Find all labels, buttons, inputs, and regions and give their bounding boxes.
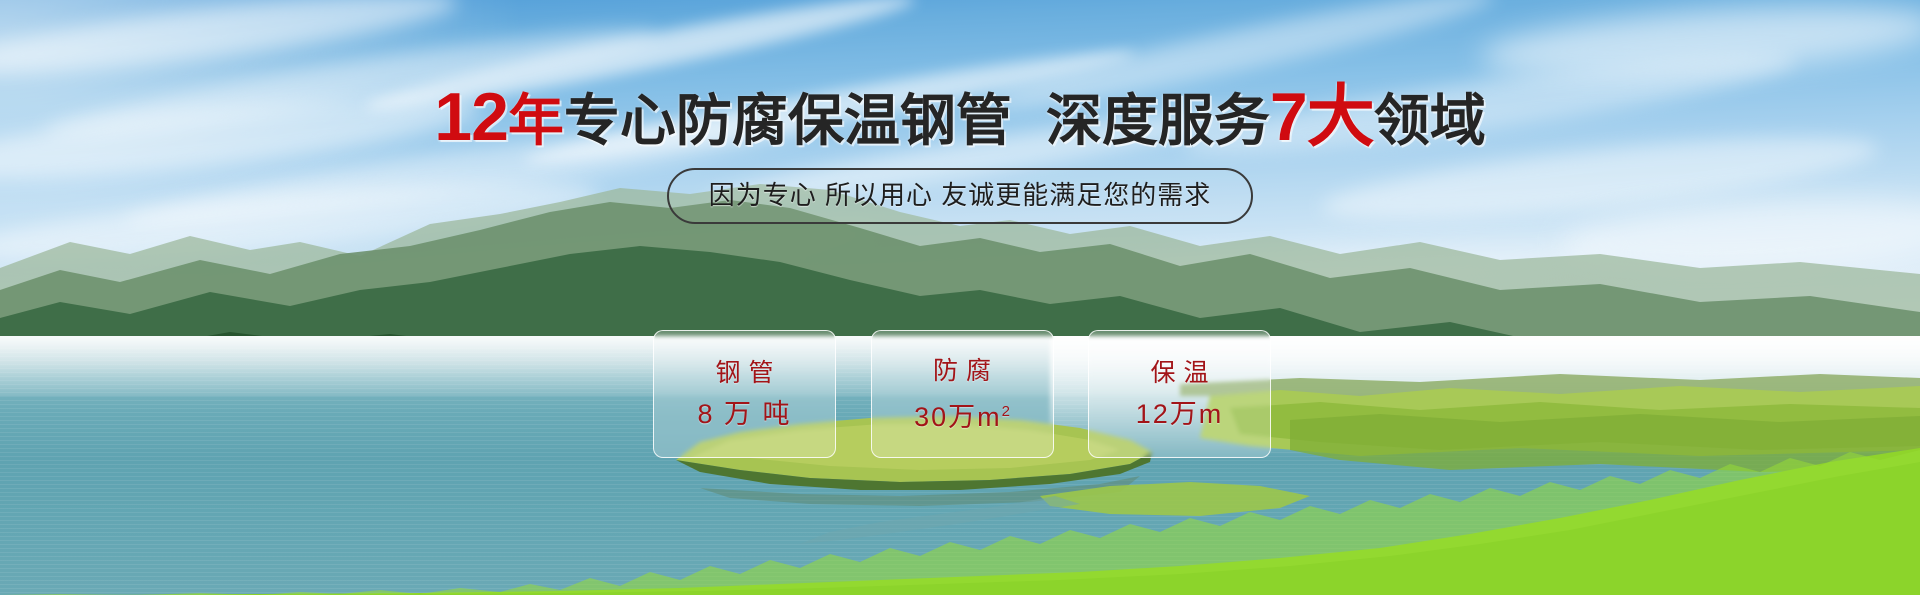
stat-card-anticorrosion[interactable]: 防腐 30万m2	[871, 330, 1054, 458]
hero-banner: 12年专心防腐保温钢管深度服务7大领域 因为专心 所以用心 友诚更能满足您的需求…	[0, 0, 1920, 595]
stat-value-exponent: 2	[1002, 403, 1010, 420]
stat-label: 防腐	[925, 358, 999, 384]
stat-value: 8 万 吨	[697, 400, 791, 428]
stat-card-group: 钢管 8 万 吨 防腐 30万m2 保温 12万m	[653, 330, 1271, 458]
stat-value-text: 30万m	[914, 402, 1002, 432]
stat-value-text: 8 万 吨	[697, 399, 791, 429]
stat-value-text: 12万m	[1136, 399, 1224, 429]
headline-part2: 深度服务	[1046, 89, 1270, 152]
headline-years-unit: 年	[508, 89, 564, 152]
stat-card-steel-pipe[interactable]: 钢管 8 万 吨	[653, 330, 836, 458]
stat-label: 钢管	[707, 360, 781, 386]
stat-value: 12万m	[1136, 400, 1224, 428]
stat-label: 保温	[1142, 360, 1216, 386]
subtitle-pill: 因为专心 所以用心 友诚更能满足您的需求	[667, 168, 1253, 224]
headline-years-number: 12	[434, 79, 508, 155]
headline: 12年专心防腐保温钢管深度服务7大领域	[0, 86, 1920, 152]
headline-fields-count: 7大	[1270, 79, 1374, 155]
stat-value: 30万m2	[914, 398, 1010, 431]
headline-part3: 领域	[1374, 89, 1486, 152]
headline-part1: 专心防腐保温钢管	[564, 89, 1012, 152]
subtitle-container: 因为专心 所以用心 友诚更能满足您的需求	[0, 168, 1920, 224]
stat-card-insulation[interactable]: 保温 12万m	[1088, 330, 1271, 458]
